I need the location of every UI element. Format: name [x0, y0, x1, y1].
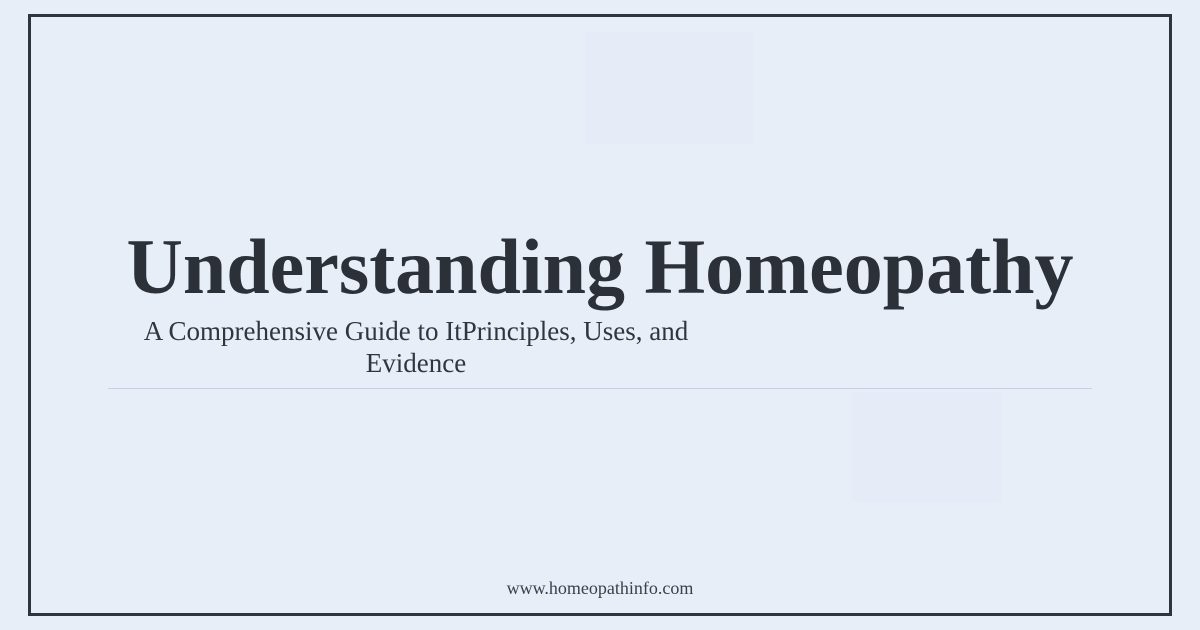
poster-canvas: Understanding Homeopathy A Comprehensive… [0, 0, 1200, 630]
divider [108, 388, 1092, 389]
footer-website-url: www.homeopathinfo.com [0, 578, 1200, 599]
page-subtitle: A Comprehensive Guide to ItPrinciples, U… [108, 316, 724, 380]
poster-content: Understanding Homeopathy A Comprehensive… [108, 0, 1092, 630]
page-title: Understanding Homeopathy [108, 228, 1092, 306]
